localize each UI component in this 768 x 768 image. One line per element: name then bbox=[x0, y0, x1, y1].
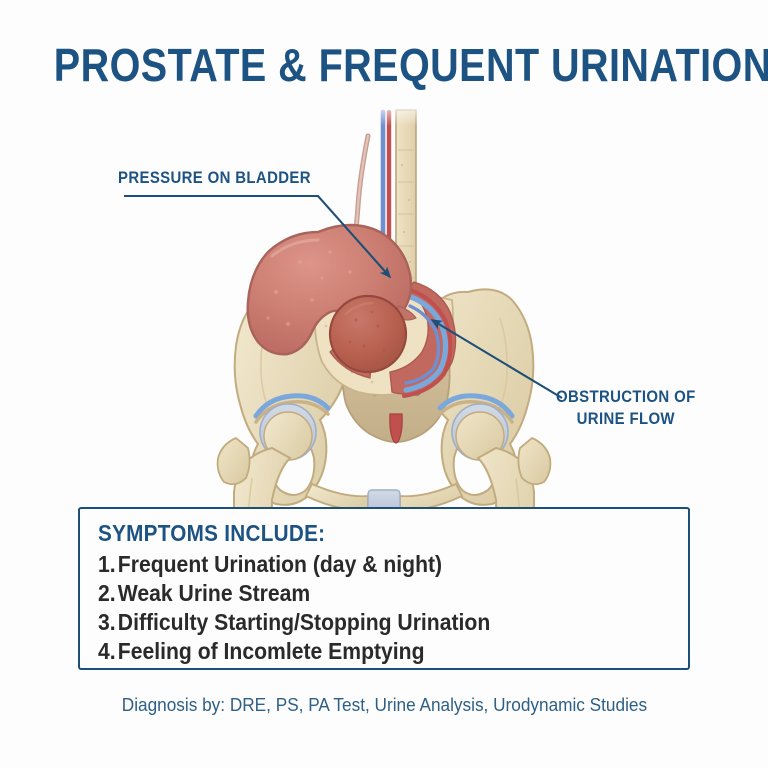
prostate bbox=[330, 296, 406, 372]
symptoms-heading: SYMPTOMS INCLUDE: bbox=[98, 520, 325, 547]
symptoms-box: SYMPTOMS INCLUDE: 1.Frequent Urination (… bbox=[78, 507, 690, 670]
symptoms-list: 1.Frequent Urination (day & night) 2.Wea… bbox=[98, 550, 534, 666]
infographic-canvas: PROSTATE & FREQUENT URINATION bbox=[0, 0, 768, 768]
callout-obstruction-line2: URINE FLOW bbox=[556, 408, 696, 430]
list-item: 4.Feeling of Incomlete Emptying bbox=[98, 637, 490, 666]
diagnosis-footer-text: Diagnosis by: DRE, PS, PA Test, Urine An… bbox=[121, 694, 646, 716]
diagnosis-footer: Diagnosis by: DRE, PS, PA Test, Urine An… bbox=[0, 694, 768, 716]
list-item-label: Frequent Urination (day & night) bbox=[118, 551, 442, 577]
callout-obstruction-of-urine-flow: OBSTRUCTION OF URINE FLOW bbox=[556, 386, 696, 430]
callout-pressure-on-bladder: PRESSURE ON BLADDER bbox=[118, 167, 311, 189]
callout-obstruction-line1: OBSTRUCTION OF bbox=[556, 386, 696, 408]
list-item-number: 2. bbox=[98, 579, 118, 608]
list-item-number: 1. bbox=[98, 550, 118, 579]
list-item-number: 3. bbox=[98, 608, 118, 637]
list-item-label: Feeling of Incomlete Emptying bbox=[118, 638, 425, 664]
list-item-number: 4. bbox=[98, 637, 118, 666]
list-item: 2.Weak Urine Stream bbox=[98, 579, 490, 608]
list-item-label: Difficulty Starting/Stopping Urination bbox=[118, 609, 490, 635]
list-item: 3.Difficulty Starting/Stopping Urination bbox=[98, 608, 490, 637]
list-item: 1.Frequent Urination (day & night) bbox=[98, 550, 490, 579]
list-item-label: Weak Urine Stream bbox=[118, 580, 310, 606]
